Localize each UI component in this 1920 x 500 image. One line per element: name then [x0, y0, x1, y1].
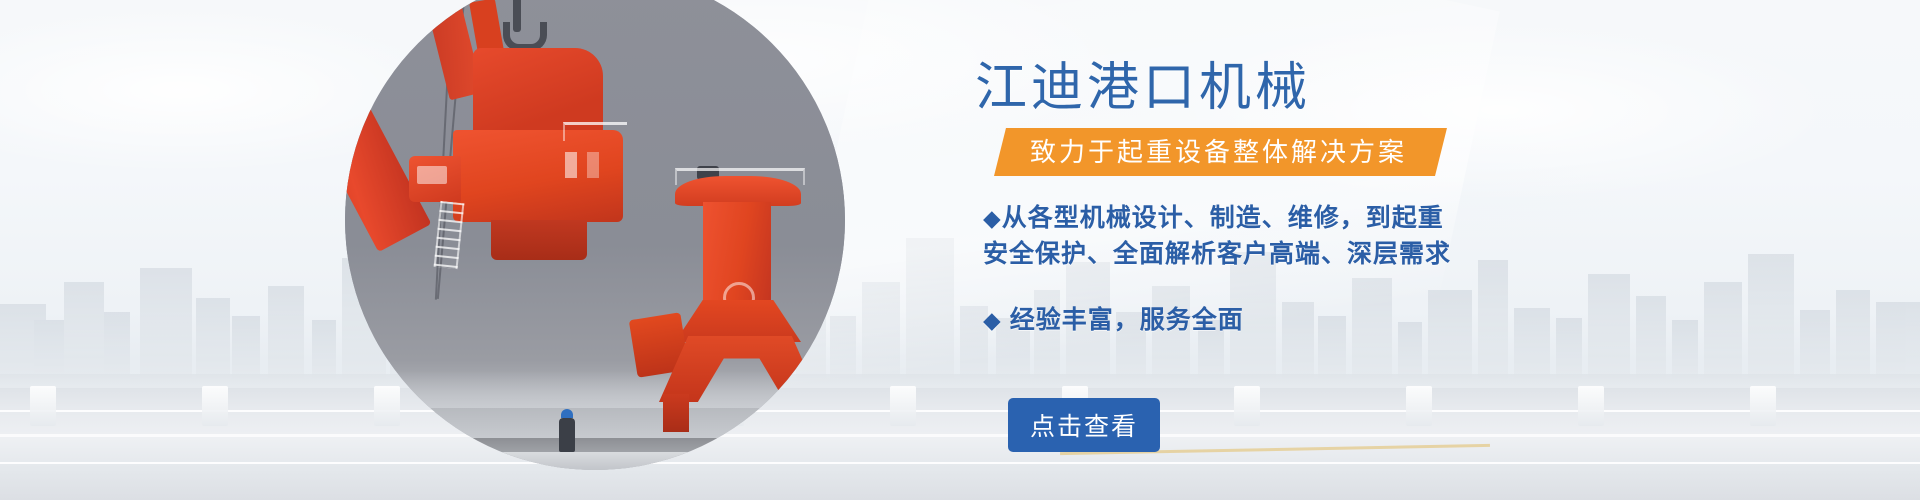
- bullet-item-1: ◆从各型机械设计、制造、维修，到起重 安全保护、全面解析客户高端、深层需求: [983, 200, 1663, 272]
- banner-tagline-ribbon: 致力于起重设备整体解决方案: [994, 128, 1447, 176]
- photo-worker: [559, 418, 575, 452]
- banner-headline: 江迪港口机械: [975, 60, 1311, 117]
- banner-tagline-text: 致力于起重设备整体解决方案: [1030, 128, 1407, 176]
- crane-leg: [797, 394, 823, 432]
- crane-leg: [663, 394, 689, 432]
- banner-content: 江迪港口机械 致力于起重设备整体解决方案 ◆从各型机械设计、制造、维修，到起重 …: [975, 0, 1675, 500]
- view-details-button[interactable]: 点击查看: [1008, 398, 1160, 452]
- hero-banner: 江迪港口机械 致力于起重设备整体解决方案 ◆从各型机械设计、制造、维修，到起重 …: [0, 0, 1920, 500]
- bullet-line-text: 安全保护、全面解析客户高端、深层需求: [983, 240, 1451, 268]
- bullet-line-text: 从各型机械设计、制造、维修，到起重: [1002, 204, 1444, 232]
- crane-tower-base: [675, 300, 801, 342]
- bullet-line: ◆经验丰富，服务全面: [983, 302, 1663, 338]
- banner-bullet-list: ◆从各型机械设计、制造、维修，到起重 安全保护、全面解析客户高端、深层需求 ◆经…: [983, 200, 1663, 338]
- bullet-line: ◆从各型机械设计、制造、维修，到起重: [983, 200, 1663, 236]
- bullet-line: 安全保护、全面解析客户高端、深层需求: [983, 236, 1663, 272]
- bullet-item-2: ◆经验丰富，服务全面: [983, 302, 1663, 338]
- right-crane: [345, 0, 845, 470]
- crane-photo-circle: [345, 0, 845, 470]
- bullet-line-text: 经验丰富，服务全面: [1010, 306, 1244, 334]
- diamond-bullet-icon: ◆: [983, 307, 1002, 333]
- diamond-bullet-icon: ◆: [983, 205, 1002, 231]
